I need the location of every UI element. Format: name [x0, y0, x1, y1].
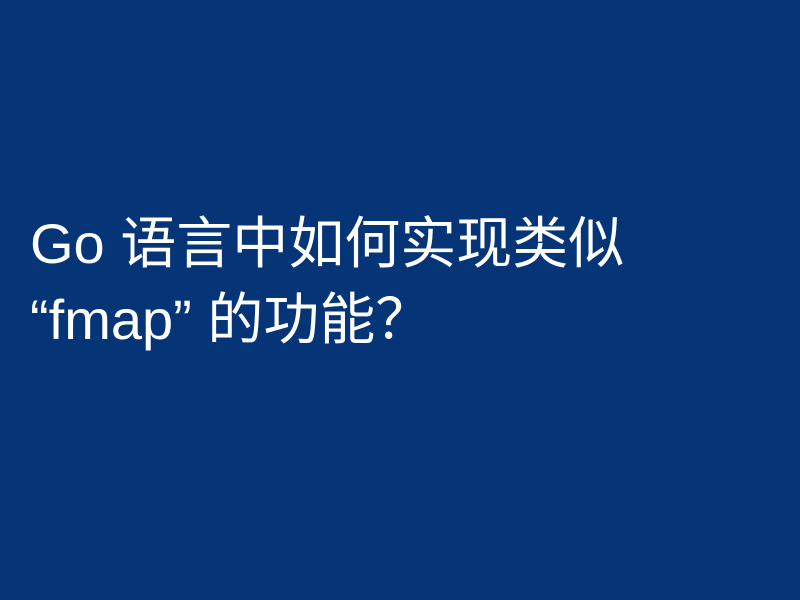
- page-title: Go 语言中如何实现类似 “fmap” 的功能？: [30, 0, 764, 358]
- title-slide: Go 语言中如何实现类似 “fmap” 的功能？: [0, 0, 800, 600]
- headline-block: Go 语言中如何实现类似 “fmap” 的功能？: [0, 0, 800, 600]
